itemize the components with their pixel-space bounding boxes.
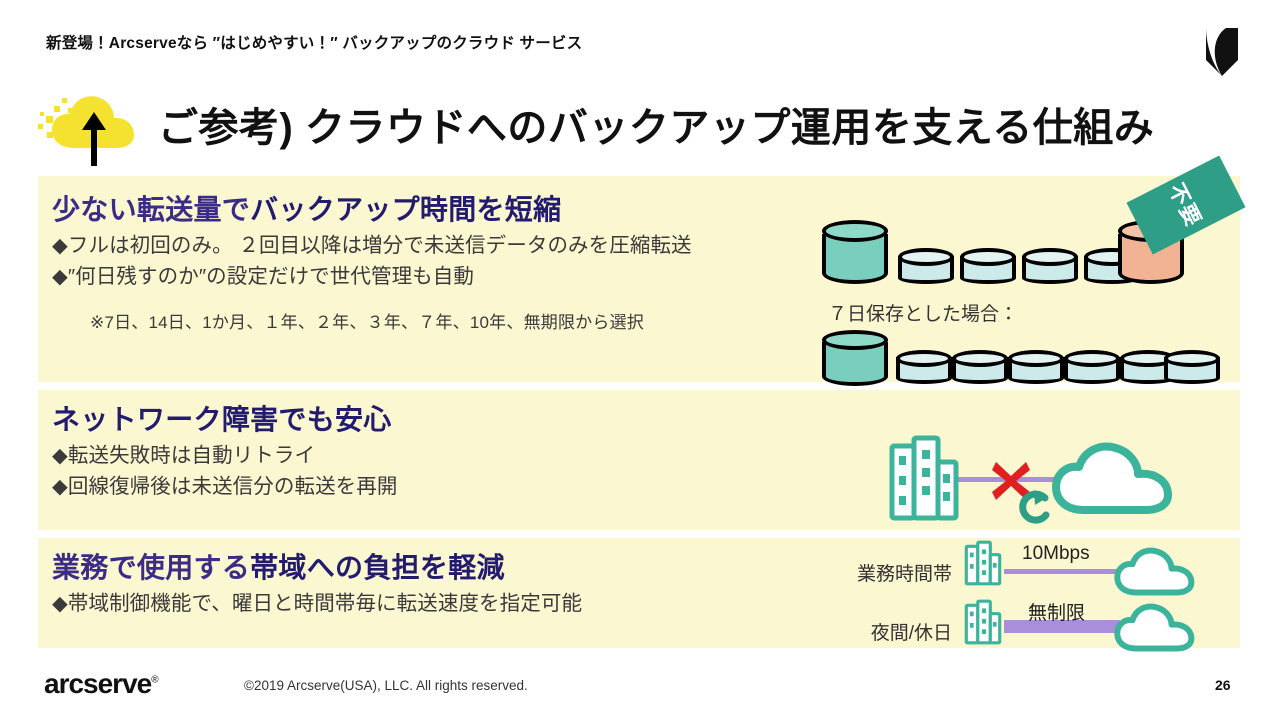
cylinder-incremental (952, 350, 1008, 384)
panel1-heading: 少ない転送量でバックアップ時間を短縮 (52, 188, 561, 228)
panel1-heading-accent: バックアップ時間を短縮 (250, 194, 561, 225)
bandwidth-speed: 無制限 (1028, 598, 1085, 625)
panel3-heading-accent: 帯域への負担を軽減 (250, 552, 505, 583)
panel3-heading-plain: 業務で使用する (52, 552, 250, 583)
retention-caption: ７日保存とした場合： (828, 299, 1018, 326)
page-title: ご参考) クラウドへのバックアップ運用を支える仕組み (158, 95, 1154, 153)
slide: 新登場！Arcserveなら ″はじめやすい！″ バックアップのクラウド サービ… (0, 0, 1280, 720)
cylinder-incremental (1022, 248, 1078, 284)
cylinder-full-backup (822, 330, 888, 386)
copyright-text: ©2019 Arcserve(USA), LLC. All rights res… (244, 678, 528, 693)
cylinder-full-backup (822, 220, 888, 284)
header-title: 新登場！Arcserveなら ″はじめやすい！″ バックアップのクラウド サービ… (46, 31, 582, 53)
cloud-upload-icon (34, 86, 152, 168)
bandwidth-row-label: 夜間/休日 (828, 618, 952, 645)
panel2-bullet-1: ◆転送失敗時は自動リトライ (52, 438, 315, 468)
bandwidth-link-thin (1004, 569, 1120, 574)
panel1-bullet-1: ◆フルは初回のみ。 ２回目以降は増分で未送信データのみを圧縮転送 (52, 228, 692, 258)
cylinder-incremental (1064, 350, 1120, 384)
page-number: 26 (1215, 677, 1231, 693)
cloud-icon (1112, 546, 1198, 603)
panel2-heading-accent: ネットワーク障害でも安心 (52, 404, 392, 435)
arcserve-wordmark-text: arcserve (44, 668, 151, 699)
cylinder-incremental (960, 248, 1016, 284)
panel1-bullet-2: ◆″何日残すのか″の設定だけで世代管理も自動 (52, 259, 474, 289)
arcserve-wordmark: arcserve® (44, 668, 158, 700)
cylinder-incremental (1164, 350, 1220, 384)
panel2-heading: ネットワーク障害でも安心 (52, 398, 392, 438)
office-building-icon (888, 432, 960, 529)
panel3-bullet-1: ◆帯域制御機能で、曜日と時間帯毎に転送速度を指定可能 (52, 586, 582, 616)
arcserve-shield-logo-icon (1200, 26, 1244, 78)
registered-mark: ® (151, 675, 157, 686)
cylinder-incremental (898, 248, 954, 284)
cloud-icon (1112, 602, 1198, 659)
bandwidth-row-label: 業務時間帯 (828, 559, 952, 586)
panel2-bullet-2: ◆回線復帰後は未送信分の転送を再開 (52, 469, 397, 499)
badge-unneeded-label: 不要 (1162, 178, 1210, 233)
panel1-heading-plain: 少ない転送量で (52, 194, 250, 225)
office-building-icon (960, 539, 1006, 592)
cloud-icon (1048, 440, 1178, 523)
cylinder-incremental (1008, 350, 1064, 384)
panel3-heading: 業務で使用する帯域への負担を軽減 (52, 546, 505, 586)
panel1-note: ※7日、14日、1か月、１年、２年、３年、７年、10年、無期限から選択 (90, 308, 644, 333)
bandwidth-speed: 10Mbps (1022, 543, 1090, 565)
cylinder-incremental (896, 350, 952, 384)
office-building-icon (960, 598, 1006, 651)
